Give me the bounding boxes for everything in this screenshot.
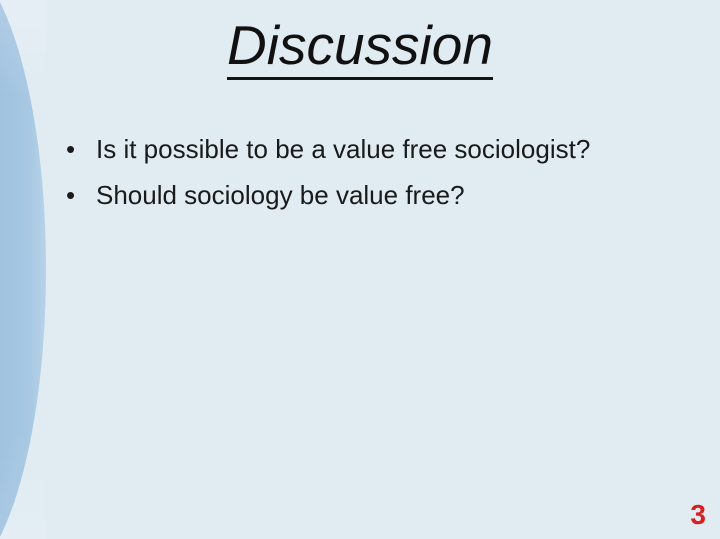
list-item: • Should sociology be value free? bbox=[66, 176, 690, 214]
bullet-point-icon: • bbox=[66, 130, 96, 168]
bullet-item-text: Is it possible to be a value free sociol… bbox=[96, 130, 690, 168]
bullet-point-icon: • bbox=[66, 176, 96, 214]
slide-title: Discussion bbox=[0, 17, 720, 80]
slide-canvas: Discussion • Is it possible to be a valu… bbox=[0, 0, 720, 539]
list-item: • Is it possible to be a value free soci… bbox=[66, 130, 690, 168]
decorative-blue-ellipse-highlight bbox=[0, 0, 46, 539]
slide-title-text: Discussion bbox=[227, 17, 493, 80]
bullet-list: • Is it possible to be a value free soci… bbox=[66, 130, 690, 222]
bullet-item-text: Should sociology be value free? bbox=[96, 176, 690, 214]
slide-number: 3 bbox=[690, 499, 706, 531]
decorative-blue-ellipse bbox=[0, 0, 46, 539]
